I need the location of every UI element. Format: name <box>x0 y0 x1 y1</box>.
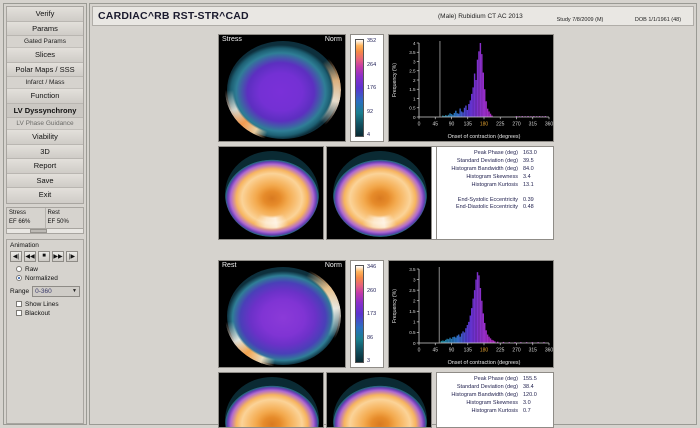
stat-label: Standard Deviation (deg) <box>441 384 523 391</box>
svg-text:135: 135 <box>464 348 473 354</box>
sidebar-item-gated-params[interactable]: Gated Params <box>7 36 83 48</box>
checkbox-show-lines-label: Show Lines <box>25 301 59 308</box>
application-window: VerifyParamsGated ParamsSlicesPolar Maps… <box>0 0 700 428</box>
ef-scrollbar[interactable] <box>6 229 84 234</box>
rest-stat-row: Histogram Bandwidth (deg)120.0 <box>441 392 549 399</box>
stat-value: 0.39 <box>523 197 549 204</box>
rest-stat-row: Peak Phase (deg)155.5 <box>441 376 549 383</box>
svg-text:1: 1 <box>413 96 416 101</box>
stat-value: 3.4 <box>523 174 549 181</box>
svg-text:0: 0 <box>418 348 421 354</box>
range-dropdown[interactable]: 0-360 ▼ <box>32 286 80 297</box>
svg-text:3: 3 <box>413 277 416 282</box>
rest-stat-row: Histogram Kurtosis0.7 <box>441 408 549 415</box>
rest-colorbar-ticks: 346260173863 <box>366 261 382 367</box>
checkbox-show-lines-box[interactable] <box>16 301 22 307</box>
radio-normalized-indicator[interactable] <box>16 275 22 281</box>
animation-transport-controls: ◀|◀◀■▶▶|▶ <box>10 251 80 262</box>
svg-text:180: 180 <box>480 348 489 354</box>
svg-text:3: 3 <box>413 59 416 64</box>
rest-colorbar-tick: 173 <box>367 311 376 317</box>
rest-colorbar-tick: 260 <box>367 288 376 294</box>
rest-histogram-chart[interactable]: 0459013518022527031536000.511.522.533.5O… <box>388 260 554 368</box>
study-header-bar: CARDIAC^RB RST-STR^CAD (Male) Rubidium C… <box>92 6 694 26</box>
patient-description: (Male) Rubidium CT AC 2013 <box>438 13 523 20</box>
sidebar-item-exit[interactable]: Exit <box>7 188 83 203</box>
first-frame-button[interactable]: ◀| <box>10 251 22 262</box>
stress-colorbar-ticks: 352264176924 <box>366 35 382 141</box>
stat-value: 0.48 <box>523 204 549 211</box>
study-date-label: Study 7/8/2009 (M) <box>557 17 604 23</box>
radio-normalized-label: Normalized <box>25 275 58 282</box>
stat-label: Histogram Kurtosis <box>441 408 523 415</box>
rest-perfusion-polar-map[interactable] <box>218 372 324 428</box>
svg-text:2.5: 2.5 <box>409 69 416 74</box>
svg-text:225: 225 <box>496 348 505 354</box>
stat-label: End-Systolic Eccentricity <box>441 197 523 204</box>
stat-label: End-Diastolic Eccentricity <box>441 204 523 211</box>
range-dropdown-value: 0-360 <box>35 288 52 295</box>
checkbox-blackout[interactable]: Blackout <box>16 310 80 317</box>
svg-text:2: 2 <box>413 78 416 83</box>
stress-colorbar: 352264176924 <box>350 34 384 142</box>
workspace: Stress Norm 352264176924 045901351802252… <box>92 28 694 422</box>
rest-colorbar-tick: 86 <box>367 335 373 341</box>
svg-text:1.5: 1.5 <box>409 309 416 314</box>
svg-text:270: 270 <box>512 122 521 128</box>
stat-value: 0.7 <box>523 408 549 415</box>
stress-histogram-chart[interactable]: 0459013518022527031536000.511.522.533.54… <box>388 34 554 142</box>
svg-text:0.5: 0.5 <box>409 106 416 111</box>
stress-perfusion-polar-map[interactable] <box>218 146 324 240</box>
ef-cell-value: EF 66% <box>9 218 43 227</box>
stress-phase-polar-map[interactable]: Stress Norm <box>218 34 346 142</box>
sidebar-item-lv-dyssynchrony[interactable]: LV Dyssynchrony <box>7 104 83 119</box>
range-label: Range <box>10 288 29 295</box>
stress-histogram-svg: 0459013518022527031536000.511.522.533.54… <box>389 35 555 143</box>
forward-button[interactable]: ▶▶ <box>52 251 64 262</box>
stat-value: 163.0 <box>523 150 549 157</box>
stat-label: Standard Deviation (deg) <box>441 158 523 165</box>
rest-stat-row: Standard Deviation (deg)38.4 <box>441 384 549 391</box>
stress-colorbar-tick: 352 <box>367 38 376 44</box>
stop-button[interactable]: ■ <box>38 251 50 262</box>
svg-text:360: 360 <box>545 348 554 354</box>
svg-text:Frequency (%): Frequency (%) <box>392 289 398 323</box>
svg-text:1.5: 1.5 <box>409 87 416 92</box>
stat-value: 38.4 <box>523 384 549 391</box>
ef-cell-stress: StressEF 66% <box>7 208 45 228</box>
sidebar-item-function[interactable]: Function <box>7 89 83 104</box>
stress-stats-panel: Peak Phase (deg)163.0Standard Deviation … <box>436 146 554 240</box>
range-selector-row: Range 0-360 ▼ <box>10 286 80 297</box>
svg-text:315: 315 <box>529 122 538 128</box>
rest-stat-row: Histogram Skewness3.0 <box>441 400 549 407</box>
stats-spacer <box>441 190 549 197</box>
stat-label: Histogram Skewness <box>441 174 523 181</box>
checkbox-blackout-box[interactable] <box>16 310 22 316</box>
radio-raw-indicator[interactable] <box>16 266 22 272</box>
svg-text:90: 90 <box>449 122 455 128</box>
stress-perfusion-defect-arc-2 <box>337 155 423 233</box>
stat-label: Histogram Skewness <box>441 400 523 407</box>
stress-stat-row: Histogram Bandwidth (deg)84.0 <box>441 166 549 173</box>
chevron-down-icon: ▼ <box>72 288 77 294</box>
stat-value: 13.1 <box>523 182 549 189</box>
svg-text:45: 45 <box>432 348 438 354</box>
sidebar-item-params[interactable]: Params <box>7 22 83 37</box>
stress-stat-row: Histogram Skewness3.4 <box>441 174 549 181</box>
animation-panel: Animation ◀|◀◀■▶▶|▶ Raw Normalized Range… <box>6 239 84 425</box>
svg-text:4: 4 <box>413 41 416 46</box>
rest-perfusion-disc-2 <box>333 377 427 428</box>
sidebar-item-report[interactable]: Report <box>7 159 83 174</box>
rest-phase-polar-map[interactable]: Rest Norm <box>218 260 346 368</box>
stress-norm-label: Norm <box>325 36 342 43</box>
svg-text:0: 0 <box>418 122 421 128</box>
svg-text:2.5: 2.5 <box>409 288 416 293</box>
svg-text:180: 180 <box>480 122 489 128</box>
animation-title: Animation <box>10 242 80 249</box>
stat-label: Histogram Bandwidth (deg) <box>441 392 523 399</box>
rest-perfusion-polar-map-2[interactable] <box>326 372 432 428</box>
rest-rim-highlight <box>225 265 341 367</box>
radio-raw[interactable]: Raw <box>16 266 80 273</box>
rest-stats-panel: Peak Phase (deg)155.5Standard Deviation … <box>436 372 554 428</box>
stress-colorbar-tick: 92 <box>367 109 373 115</box>
stress-perfusion-defect-arc <box>229 155 315 233</box>
scrollbar-thumb[interactable] <box>30 229 47 233</box>
sidebar-item-save[interactable]: Save <box>7 174 83 189</box>
rest-histogram-svg: 0459013518022527031536000.511.522.533.5O… <box>389 261 555 369</box>
stat-label: Histogram Bandwidth (deg) <box>441 166 523 173</box>
main-panel: CARDIAC^RB RST-STR^CAD (Male) Rubidium C… <box>89 3 697 425</box>
stress-colorbar-tick: 4 <box>367 132 370 138</box>
ef-cell-name: Rest <box>48 209 82 218</box>
radio-normalized[interactable]: Normalized <box>16 275 80 282</box>
svg-text:1: 1 <box>413 320 416 325</box>
rest-colorbar-gradient <box>355 265 364 363</box>
stat-value: 39.5 <box>523 158 549 165</box>
svg-text:3.5: 3.5 <box>409 50 416 55</box>
radio-raw-label: Raw <box>25 266 38 273</box>
stress-colorbar-tick: 176 <box>367 85 376 91</box>
sidebar-item-polar-maps-sss[interactable]: Polar Maps / SSS <box>7 63 83 78</box>
ef-cell-rest: RestEF 50% <box>45 208 84 228</box>
dob-label: DOB 1/1/1961 (48) <box>635 17 681 23</box>
svg-text:3.5: 3.5 <box>409 267 416 272</box>
stat-label: Peak Phase (deg) <box>441 150 523 157</box>
rest-colorbar: 346260173863 <box>350 260 384 368</box>
sidebar-item-verify[interactable]: Verify <box>7 7 83 22</box>
stat-label: Histogram Kurtosis <box>441 182 523 189</box>
sidebar-item-3d[interactable]: 3D <box>7 145 83 160</box>
svg-text:0: 0 <box>413 115 416 120</box>
stat-label: Peak Phase (deg) <box>441 376 523 383</box>
svg-text:0.5: 0.5 <box>409 330 416 335</box>
checkbox-blackout-label: Blackout <box>25 310 50 317</box>
rest-phase-label: Rest <box>222 262 236 269</box>
svg-text:Onset of contraction (degrees): Onset of contraction (degrees) <box>448 134 521 140</box>
sidebar-item-viability[interactable]: Viability <box>7 130 83 145</box>
rest-norm-label: Norm <box>325 262 342 269</box>
sidebar-item-lv-phase-guidance[interactable]: LV Phase Guidance <box>7 118 83 130</box>
svg-text:360: 360 <box>545 122 554 128</box>
stress-colorbar-tick: 264 <box>367 62 376 68</box>
rest-colorbar-tick: 3 <box>367 358 370 364</box>
svg-text:2: 2 <box>413 299 416 304</box>
svg-text:315: 315 <box>529 348 538 354</box>
svg-text:Onset of contraction (degrees): Onset of contraction (degrees) <box>448 360 521 366</box>
stat-value: 3.0 <box>523 400 549 407</box>
stress-stat-row: Peak Phase (deg)163.0 <box>441 150 549 157</box>
rewind-button[interactable]: ◀◀ <box>24 251 36 262</box>
svg-text:270: 270 <box>512 348 521 354</box>
ef-cell-name: Stress <box>9 209 43 218</box>
sidebar-item-infarct-mass[interactable]: Infarct / Mass <box>7 77 83 89</box>
stress-perfusion-polar-map-2[interactable] <box>326 146 432 240</box>
ef-cell-value: EF 50% <box>48 218 82 227</box>
svg-text:Frequency (%): Frequency (%) <box>392 63 398 97</box>
last-frame-button[interactable]: |▶ <box>66 251 78 262</box>
svg-text:90: 90 <box>449 348 455 354</box>
stress-colorbar-gradient <box>355 39 364 137</box>
ef-summary-box: StressEF 66%RestEF 50% <box>6 207 84 229</box>
navigation-menu: VerifyParamsGated ParamsSlicesPolar Maps… <box>6 6 84 204</box>
svg-text:0: 0 <box>413 341 416 346</box>
page-title: CARDIAC^RB RST-STR^CAD <box>98 10 249 22</box>
stress-stat-row: End-Diastolic Eccentricity0.48 <box>441 204 549 211</box>
stress-stat-row: Histogram Kurtosis13.1 <box>441 182 549 189</box>
stress-stat-row: Standard Deviation (deg)39.5 <box>441 158 549 165</box>
rest-perfusion-disc <box>225 377 319 428</box>
sidebar-item-slices[interactable]: Slices <box>7 48 83 63</box>
rest-colorbar-tick: 346 <box>367 264 376 270</box>
checkbox-show-lines[interactable]: Show Lines <box>16 301 80 308</box>
svg-text:135: 135 <box>464 122 473 128</box>
svg-text:225: 225 <box>496 122 505 128</box>
stress-stat-row: End-Systolic Eccentricity0.39 <box>441 197 549 204</box>
left-sidebar: VerifyParamsGated ParamsSlicesPolar Maps… <box>3 3 87 425</box>
stat-value: 84.0 <box>523 166 549 173</box>
stat-value: 155.5 <box>523 376 549 383</box>
svg-text:45: 45 <box>432 122 438 128</box>
stress-rim-highlight <box>225 39 341 141</box>
stress-phase-label: Stress <box>222 36 242 43</box>
stat-value: 120.0 <box>523 392 549 399</box>
